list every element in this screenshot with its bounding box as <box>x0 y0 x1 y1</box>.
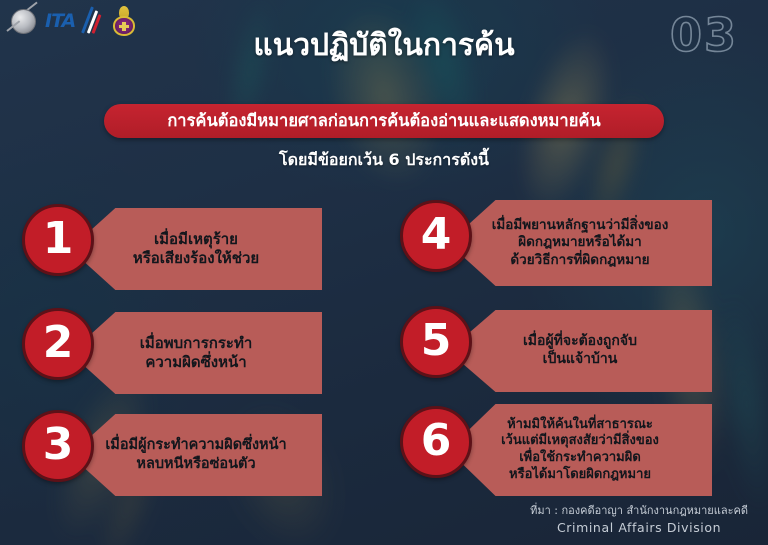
item-number: 2 <box>43 321 74 365</box>
item-text: เมื่อมีผู้กระทำความผิดซึ่งหน้าหลบหนีหรือ… <box>105 436 286 473</box>
slide-root: ITA 03 แนวปฏิบัติในการค้น การค้นต้องมีหม… <box>0 0 768 545</box>
footer-source-thai: ที่มา : กองคดีอาญา สำนักงานกฎหมายและคดี <box>530 503 748 519</box>
item-text: ห้ามมิให้ค้นในที่สาธารณะเว้นแต่มีเหตุสงส… <box>501 417 659 484</box>
footer: ที่มา : กองคดีอาญา สำนักงานกฎหมายและคดี … <box>530 503 748 537</box>
item-number: 4 <box>421 213 452 257</box>
item-callout-arrow: เมื่อผู้ที่จะต้องถูกจับเป็นแจ้าบ้าน <box>448 310 712 392</box>
item-callout-arrow: เมื่อมีผู้กระทำความผิดซึ่งหน้าหลบหนีหรือ… <box>70 414 322 496</box>
item-text: เมื่อมีเหตุร้ายหรือเสียงร้องให้ช่วย <box>133 230 259 268</box>
item-number-badge: 3 <box>22 410 94 482</box>
item-number-badge: 2 <box>22 308 94 380</box>
item-number-badge: 1 <box>22 204 94 276</box>
footer-source-english: Criminal Affairs Division <box>530 519 748 537</box>
item-number-badge: 6 <box>400 406 472 478</box>
item-text: เมื่อพบการกระทำความผิดซึ่งหน้า <box>140 334 253 372</box>
item-callout-arrow: เมื่อมีพยานหลักฐานว่ามีสิ่งของผิดกฎหมายห… <box>448 200 712 286</box>
page-title: แนวปฏิบัติในการค้น <box>0 22 768 69</box>
item-callout-arrow: ห้ามมิให้ค้นในที่สาธารณะเว้นแต่มีเหตุสงส… <box>448 404 712 496</box>
item-number-badge: 5 <box>400 306 472 378</box>
item-callout-arrow: เมื่อพบการกระทำความผิดซึ่งหน้า <box>70 312 322 394</box>
item-number: 6 <box>421 419 452 463</box>
headline-banner: การค้นต้องมีหมายศาลก่อนการค้นต้องอ่านและ… <box>104 104 664 138</box>
subtitle: โดยมีข้อยกเว้น 6 ประการดังนี้ <box>0 148 768 173</box>
item-number: 3 <box>43 423 74 467</box>
item-number: 1 <box>43 217 74 261</box>
item-callout-arrow: เมื่อมีเหตุร้ายหรือเสียงร้องให้ช่วย <box>70 208 322 290</box>
item-text: เมื่อมีพยานหลักฐานว่ามีสิ่งของผิดกฎหมายห… <box>492 217 669 270</box>
item-text: เมื่อผู้ที่จะต้องถูกจับเป็นแจ้าบ้าน <box>523 333 637 369</box>
background-swirl-texture <box>0 262 267 545</box>
item-number-badge: 4 <box>400 200 472 272</box>
item-number: 5 <box>421 319 452 363</box>
headline-banner-text: การค้นต้องมีหมายศาลก่อนการค้นต้องอ่านและ… <box>167 108 600 134</box>
